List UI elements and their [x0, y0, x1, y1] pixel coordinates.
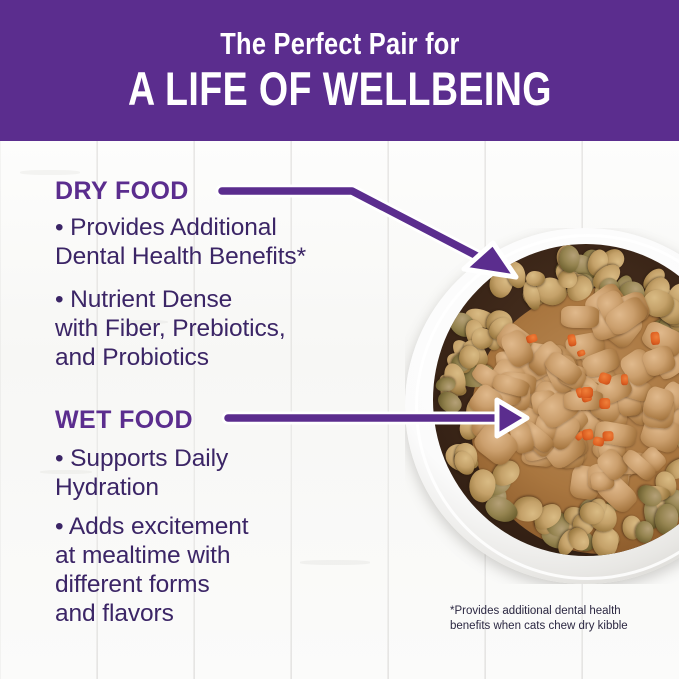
dry-kibble-piece: [526, 270, 545, 285]
carrot-bit: [650, 331, 660, 345]
header-band: The Perfect Pair for A LIFE OF WELLBEING: [0, 0, 679, 141]
cat-food-bowl-image: [405, 228, 679, 584]
carrot-bit: [603, 431, 614, 442]
dry-kibble-piece: [558, 245, 579, 272]
header-title: A LIFE OF WELLBEING: [128, 64, 552, 113]
header-subtitle: The Perfect Pair for: [220, 28, 459, 61]
carrot-bit: [581, 387, 594, 399]
carrot-bit: [581, 428, 594, 441]
promo-graphic: The Perfect Pair for A LIFE OF WELLBEING…: [0, 0, 679, 679]
carrot-bit: [599, 398, 610, 409]
wet-food-chunk: [560, 306, 598, 328]
carrot-bit: [566, 334, 576, 347]
carrot-bit: [621, 374, 629, 385]
